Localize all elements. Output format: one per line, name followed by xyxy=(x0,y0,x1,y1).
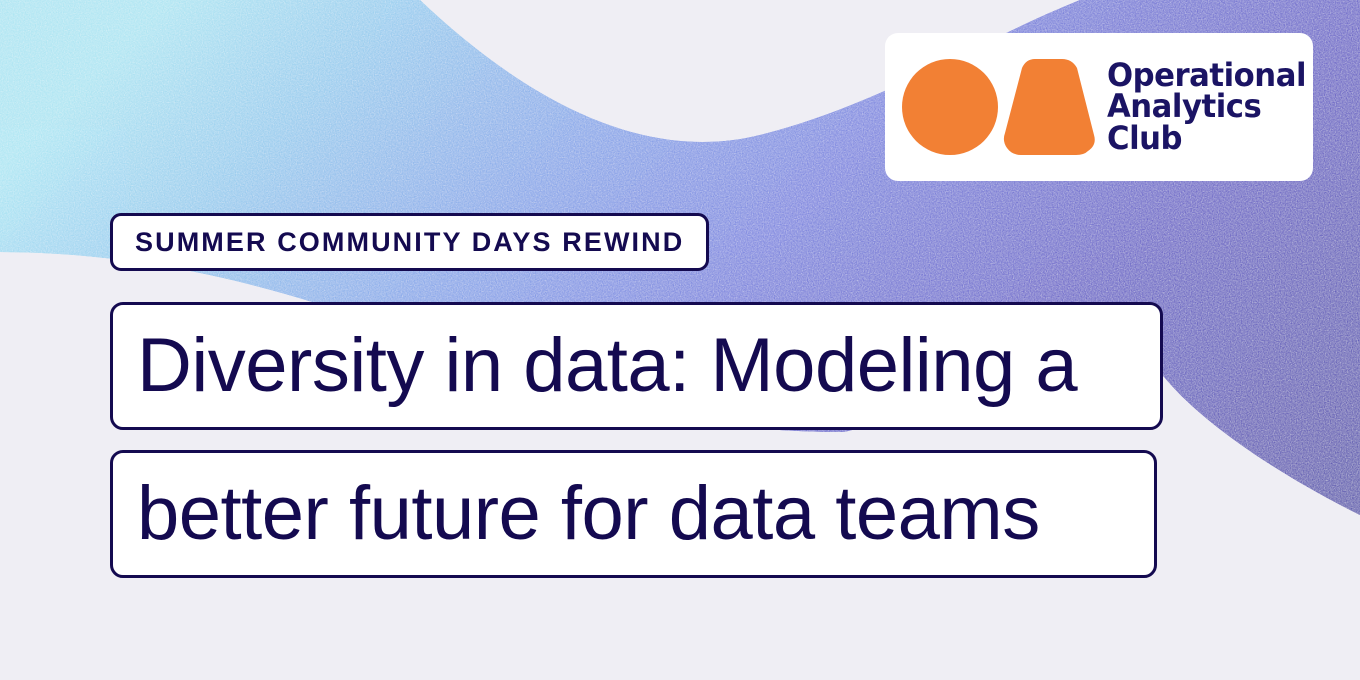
logo-card[interactable]: Operational Analytics Club xyxy=(885,33,1313,181)
title-card-line-1: Diversity in data: Modeling a xyxy=(110,302,1163,430)
promo-banner: Operational Analytics Club SUMMER COMMUN… xyxy=(0,0,1360,680)
eyebrow-badge: SUMMER COMMUNITY DAYS REWIND xyxy=(110,213,709,271)
title-line-1: Diversity in data: Modeling a xyxy=(137,328,1077,404)
eyebrow-label: SUMMER COMMUNITY DAYS REWIND xyxy=(135,227,684,258)
oac-logo-mark-icon xyxy=(902,57,1097,157)
title-line-2: better future for data teams xyxy=(137,476,1040,552)
logo-wordmark-line-3: Club xyxy=(1107,123,1306,154)
title-card-line-2: better future for data teams xyxy=(110,450,1157,578)
logo-wordmark: Operational Analytics Club xyxy=(1107,60,1314,153)
